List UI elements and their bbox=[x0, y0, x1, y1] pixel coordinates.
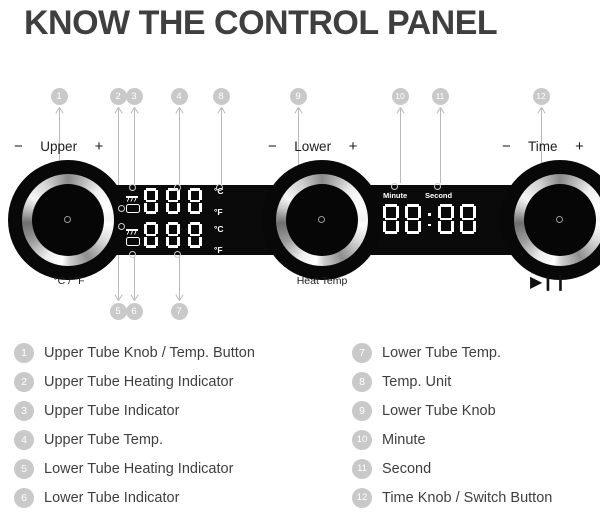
second-label: Second bbox=[425, 191, 452, 200]
upper-knob-label: Upper bbox=[40, 139, 77, 154]
lower-minus-sign[interactable]: − bbox=[268, 138, 277, 155]
legend-label-4: Upper Tube Temp. bbox=[44, 432, 163, 448]
legend-badge-8: 8 bbox=[352, 372, 372, 392]
anchor-temp-unit bbox=[216, 184, 223, 191]
legend-item: 9Lower Tube Knob bbox=[352, 396, 600, 425]
legend-item: 4Upper Tube Temp. bbox=[14, 425, 314, 454]
legend-label-7: Lower Tube Temp. bbox=[382, 345, 501, 361]
seven-segment-digit bbox=[460, 204, 476, 234]
page-title: KNOW THE CONTROL PANEL bbox=[24, 4, 497, 43]
control-panel: °C°F°C°F Minute Second bbox=[0, 160, 600, 280]
seven-segment-digit bbox=[166, 222, 180, 248]
upper-knob-caption: − Upper + bbox=[14, 138, 103, 155]
legend-column-right: 7Lower Tube Temp.8Temp. Unit9Lower Tube … bbox=[352, 338, 600, 512]
legend-label-5: Lower Tube Heating Indicator bbox=[44, 461, 233, 477]
seven-segment-colon bbox=[427, 204, 432, 234]
seven-segment-digit bbox=[188, 222, 202, 248]
legend-badge-12: 12 bbox=[352, 488, 372, 508]
legend-badge-1: 1 bbox=[14, 343, 34, 363]
play-pause-icon[interactable]: ▶❙❙ bbox=[530, 272, 566, 292]
heating-plate-icon bbox=[126, 229, 138, 231]
legend-item: 10Minute bbox=[352, 425, 600, 454]
legend-item: 2Upper Tube Heating Indicator bbox=[14, 367, 314, 396]
callout-arrow-8 bbox=[217, 107, 226, 114]
heating-waves-icon bbox=[126, 222, 137, 228]
legend-item: 11Second bbox=[352, 454, 600, 483]
legend-badge-9: 9 bbox=[352, 401, 372, 421]
lower-tube-knob[interactable] bbox=[262, 160, 382, 280]
legend-item: 1Upper Tube Knob / Temp. Button bbox=[14, 338, 314, 367]
timer-display bbox=[383, 204, 482, 239]
time-minus-sign[interactable]: − bbox=[502, 138, 511, 155]
callout-arrow-9 bbox=[294, 107, 303, 114]
legend-badge-5: 5 bbox=[14, 459, 34, 479]
legend-label-6: Lower Tube Indicator bbox=[44, 490, 179, 506]
legend-badge-4: 4 bbox=[14, 430, 34, 450]
anchor-lower-heating bbox=[118, 223, 125, 230]
legend-badge-10: 10 bbox=[352, 430, 372, 450]
minute-label: Minute bbox=[383, 191, 407, 200]
legend-item: 6Lower Tube Indicator bbox=[14, 483, 314, 512]
legend-label-1: Upper Tube Knob / Temp. Button bbox=[44, 345, 255, 361]
callout-badge-6: 6 bbox=[126, 303, 143, 320]
callout-badge-9: 9 bbox=[290, 88, 307, 105]
seven-segment-digit bbox=[144, 188, 158, 214]
legend-badge-3: 3 bbox=[14, 401, 34, 421]
callout-arrow-12 bbox=[537, 107, 546, 114]
legend-item: 12Time Knob / Switch Button bbox=[352, 483, 600, 512]
upper-plus-sign[interactable]: + bbox=[95, 138, 104, 155]
seven-segment-digit bbox=[188, 188, 202, 214]
callout-badge-11: 11 bbox=[432, 88, 449, 105]
anchor-minute bbox=[391, 183, 398, 190]
legend-item: 3Upper Tube Indicator bbox=[14, 396, 314, 425]
time-knob[interactable] bbox=[500, 160, 600, 280]
callout-arrow-11 bbox=[436, 107, 445, 114]
callout-badge-8: 8 bbox=[213, 88, 230, 105]
legend-label-11: Second bbox=[382, 461, 431, 477]
knob-center-dot bbox=[556, 216, 563, 223]
legend-item: 5Lower Tube Heating Indicator bbox=[14, 454, 314, 483]
legend-badge-7: 7 bbox=[352, 343, 372, 363]
knob-center-dot bbox=[64, 216, 71, 223]
callout-arrow-2 bbox=[114, 107, 123, 114]
callout-badge-12: 12 bbox=[533, 88, 550, 105]
anchor-upper-heating bbox=[129, 184, 136, 191]
legend-label-12: Time Knob / Switch Button bbox=[382, 490, 552, 506]
legend-badge-11: 11 bbox=[352, 459, 372, 479]
time-knob-label: Time bbox=[528, 139, 558, 154]
lower-plus-sign[interactable]: + bbox=[349, 138, 358, 155]
callout-arrow-6 bbox=[130, 294, 139, 301]
control-panel-infographic: KNOW THE CONTROL PANEL 123489101112567 bbox=[0, 0, 600, 516]
anchor-upper-tube bbox=[118, 205, 125, 212]
legend-label-10: Minute bbox=[382, 432, 426, 448]
seven-segment-digit bbox=[144, 222, 158, 248]
anchor-upper-temp bbox=[174, 184, 181, 191]
time-knob-caption: − Time + bbox=[502, 138, 584, 155]
seven-segment-digit bbox=[405, 204, 421, 234]
callout-arrow-3 bbox=[130, 107, 139, 114]
callout-arrow-7 bbox=[175, 294, 184, 301]
anchor-lower-temp bbox=[174, 251, 181, 258]
time-plus-sign[interactable]: + bbox=[575, 138, 584, 155]
callout-badge-5: 5 bbox=[110, 303, 127, 320]
legend-label-3: Upper Tube Indicator bbox=[44, 403, 179, 419]
tube-icon bbox=[126, 204, 140, 213]
legend-badge-6: 6 bbox=[14, 488, 34, 508]
lower-knob-caption: − Lower + bbox=[268, 138, 357, 155]
upper-knob-bottom-label: °C / °F bbox=[34, 275, 104, 287]
heating-plate-icon bbox=[126, 196, 138, 198]
tube-icon bbox=[126, 237, 140, 246]
temp-unit-label: °F bbox=[214, 207, 223, 217]
callout-arrow-1 bbox=[55, 107, 64, 114]
legend-label-2: Upper Tube Heating Indicator bbox=[44, 374, 233, 390]
seven-segment-digit bbox=[383, 204, 399, 234]
callout-badge-7: 7 bbox=[171, 303, 188, 320]
callout-badge-1: 1 bbox=[51, 88, 68, 105]
upper-tube-temp-display bbox=[144, 188, 210, 219]
legend-item: 7Lower Tube Temp. bbox=[352, 338, 600, 367]
temp-unit-label: °F bbox=[214, 245, 223, 255]
callout-arrow-10 bbox=[396, 107, 405, 114]
callout-arrow-4 bbox=[175, 107, 184, 114]
legend-label-8: Temp. Unit bbox=[382, 374, 451, 390]
upper-tube-knob[interactable] bbox=[8, 160, 128, 280]
legend-label-9: Lower Tube Knob bbox=[382, 403, 496, 419]
callout-badge-3: 3 bbox=[126, 88, 143, 105]
callout-badge-2: 2 bbox=[110, 88, 127, 105]
anchor-lower-tube bbox=[129, 251, 136, 258]
anchor-second bbox=[434, 183, 441, 190]
knob-center-dot bbox=[318, 216, 325, 223]
seven-segment-digit bbox=[438, 204, 454, 234]
callout-badge-4: 4 bbox=[171, 88, 188, 105]
lower-knob-bottom-label: Heat Temp bbox=[282, 275, 362, 287]
legend-item: 8Temp. Unit bbox=[352, 367, 600, 396]
temp-unit-label: °C bbox=[214, 224, 224, 234]
lower-tube-temp-display bbox=[144, 222, 210, 253]
legend-column-left: 1Upper Tube Knob / Temp. Button2Upper Tu… bbox=[14, 338, 314, 512]
callout-badge-10: 10 bbox=[392, 88, 409, 105]
legend-badge-2: 2 bbox=[14, 372, 34, 392]
upper-minus-sign[interactable]: − bbox=[14, 138, 23, 155]
seven-segment-digit bbox=[166, 188, 180, 214]
lower-knob-label: Lower bbox=[294, 139, 331, 154]
callout-arrow-5 bbox=[114, 294, 123, 301]
